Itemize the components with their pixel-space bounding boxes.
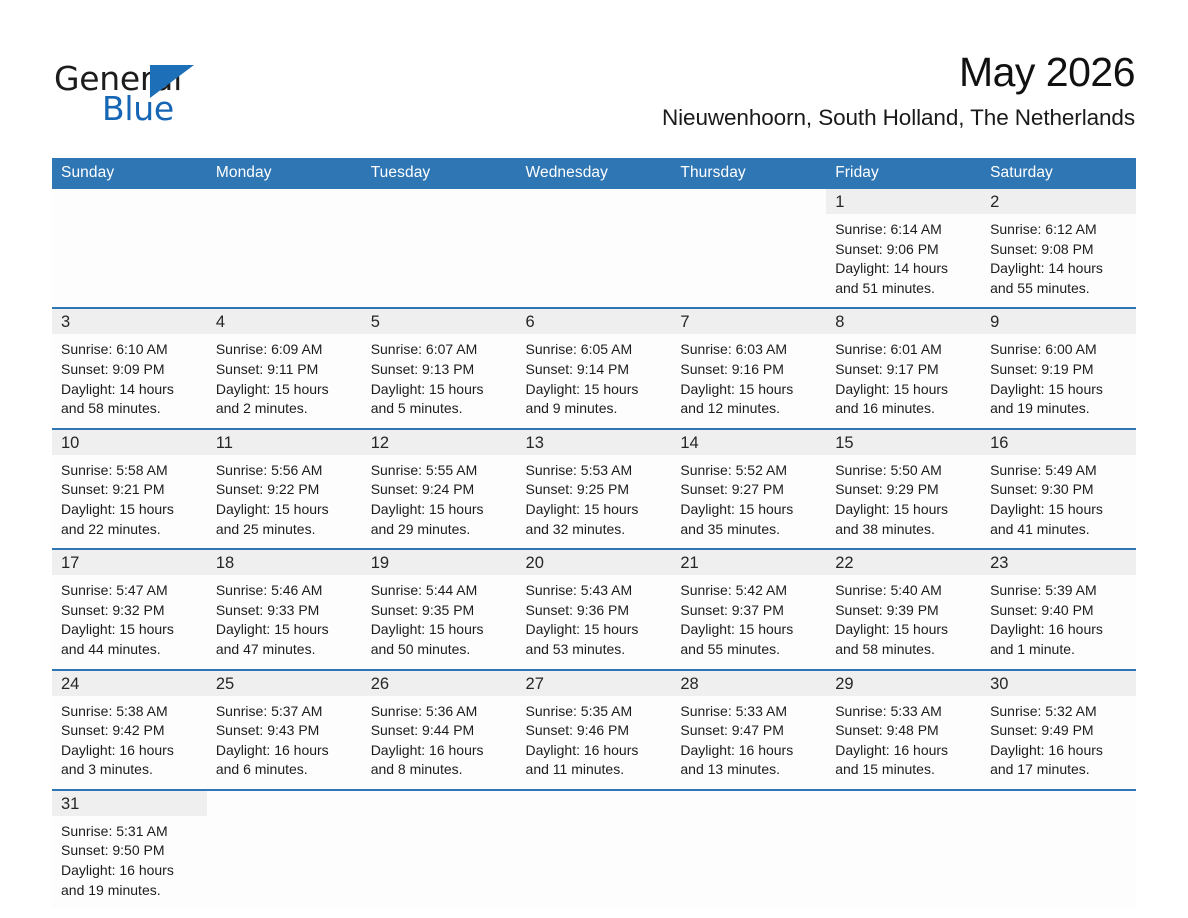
sunset-text: Sunset: 9:06 PM (835, 240, 971, 260)
sunset-text: Sunset: 9:35 PM (371, 601, 507, 621)
day-number-band: 24 (52, 671, 207, 696)
daylight-text-line2: and 1 minute. (990, 640, 1126, 660)
sunrise-text: Sunrise: 6:14 AM (835, 220, 971, 240)
day-number: 27 (526, 675, 544, 693)
day-number: 23 (990, 554, 1008, 572)
daylight-text-line2: and 58 minutes. (61, 399, 197, 419)
sunset-text: Sunset: 9:11 PM (216, 360, 352, 380)
daylight-text-line2: and 8 minutes. (371, 760, 507, 780)
daylight-text-line2: and 41 minutes. (990, 520, 1126, 540)
day-details: Sunrise: 5:58 AMSunset: 9:21 PMDaylight:… (52, 455, 207, 548)
daylight-text-line1: Daylight: 15 hours (61, 620, 197, 640)
location-subtitle: Nieuwenhoorn, South Holland, The Netherl… (662, 105, 1135, 131)
calendar-day-cell-empty (517, 790, 672, 909)
day-number-band: 8 (826, 309, 981, 334)
day-number: 12 (371, 434, 389, 452)
daylight-text-line1: Daylight: 16 hours (61, 861, 197, 881)
calendar-day-cell[interactable]: 19Sunrise: 5:44 AMSunset: 9:35 PMDayligh… (362, 549, 517, 669)
daylight-text-line2: and 47 minutes. (216, 640, 352, 660)
daylight-text-line1: Daylight: 15 hours (990, 500, 1126, 520)
day-number-band: 17 (52, 550, 207, 575)
calendar-day-cell-empty (826, 790, 981, 909)
daylight-text-line1: Daylight: 16 hours (680, 741, 816, 761)
day-number-band: 25 (207, 671, 362, 696)
sunset-text: Sunset: 9:36 PM (526, 601, 662, 621)
sunrise-text: Sunrise: 5:38 AM (61, 702, 197, 722)
day-number: 31 (61, 795, 79, 813)
sunset-text: Sunset: 9:14 PM (526, 360, 662, 380)
day-details: Sunrise: 5:33 AMSunset: 9:47 PMDaylight:… (671, 696, 826, 789)
sunset-text: Sunset: 9:24 PM (371, 480, 507, 500)
sunrise-text: Sunrise: 6:07 AM (371, 340, 507, 360)
sunset-text: Sunset: 9:19 PM (990, 360, 1126, 380)
calendar-day-cell[interactable]: 22Sunrise: 5:40 AMSunset: 9:39 PMDayligh… (826, 549, 981, 669)
day-details: Sunrise: 5:47 AMSunset: 9:32 PMDaylight:… (52, 575, 207, 668)
calendar-day-cell-empty (52, 189, 207, 308)
day-number: 5 (371, 313, 380, 331)
page-title: May 2026 (662, 47, 1135, 97)
day-number: 13 (526, 434, 544, 452)
day-number: 1 (835, 193, 844, 211)
weekday-header-friday: Friday (826, 158, 981, 189)
daylight-text-line2: and 25 minutes. (216, 520, 352, 540)
calendar-day-cell[interactable]: 17Sunrise: 5:47 AMSunset: 9:32 PMDayligh… (52, 549, 207, 669)
day-details: Sunrise: 6:00 AMSunset: 9:19 PMDaylight:… (981, 334, 1136, 427)
day-number-band: 14 (671, 430, 826, 455)
day-details: Sunrise: 5:55 AMSunset: 9:24 PMDaylight:… (362, 455, 517, 548)
calendar-page: General Blue May 2026 Nieuwenhoorn, Sout… (0, 0, 1188, 918)
daylight-text-line1: Daylight: 16 hours (835, 741, 971, 761)
daylight-text-line1: Daylight: 16 hours (990, 741, 1126, 761)
sunrise-text: Sunrise: 5:33 AM (835, 702, 971, 722)
sunset-text: Sunset: 9:40 PM (990, 601, 1126, 621)
sunset-text: Sunset: 9:48 PM (835, 721, 971, 741)
daylight-text-line1: Daylight: 15 hours (990, 380, 1126, 400)
sunset-text: Sunset: 9:13 PM (371, 360, 507, 380)
daylight-text-line2: and 53 minutes. (526, 640, 662, 660)
sunset-text: Sunset: 9:47 PM (680, 721, 816, 741)
calendar-day-cell[interactable]: 14Sunrise: 5:52 AMSunset: 9:27 PMDayligh… (671, 429, 826, 549)
day-number-band: 23 (981, 550, 1136, 575)
sunrise-text: Sunrise: 5:37 AM (216, 702, 352, 722)
day-number-band: 4 (207, 309, 362, 334)
sunset-text: Sunset: 9:49 PM (990, 721, 1126, 741)
day-number-band: 20 (517, 550, 672, 575)
day-number: 4 (216, 313, 225, 331)
calendar-day-cell[interactable]: 2Sunrise: 6:12 AMSunset: 9:08 PMDaylight… (981, 189, 1136, 308)
daylight-text-line2: and 5 minutes. (371, 399, 507, 419)
calendar-day-cell[interactable]: 29Sunrise: 5:33 AMSunset: 9:48 PMDayligh… (826, 670, 981, 790)
daylight-text-line1: Daylight: 15 hours (216, 500, 352, 520)
daylight-text-line2: and 55 minutes. (680, 640, 816, 660)
sunrise-text: Sunrise: 5:35 AM (526, 702, 662, 722)
calendar-day-cell-empty (362, 189, 517, 308)
daylight-text-line2: and 50 minutes. (371, 640, 507, 660)
day-details: Sunrise: 6:09 AMSunset: 9:11 PMDaylight:… (207, 334, 362, 427)
sunrise-text: Sunrise: 5:52 AM (680, 461, 816, 481)
day-details: Sunrise: 6:03 AMSunset: 9:16 PMDaylight:… (671, 334, 826, 427)
day-number: 17 (61, 554, 79, 572)
sunrise-text: Sunrise: 5:39 AM (990, 581, 1126, 601)
calendar-day-cell[interactable]: 21Sunrise: 5:42 AMSunset: 9:37 PMDayligh… (671, 549, 826, 669)
sunrise-text: Sunrise: 5:36 AM (371, 702, 507, 722)
calendar-week-row: 3Sunrise: 6:10 AMSunset: 9:09 PMDaylight… (52, 308, 1136, 428)
day-number-band: 2 (981, 189, 1136, 214)
calendar-day-cell-empty (671, 189, 826, 308)
day-number: 8 (835, 313, 844, 331)
sunrise-text: Sunrise: 5:46 AM (216, 581, 352, 601)
sunrise-text: Sunrise: 5:58 AM (61, 461, 197, 481)
sunset-text: Sunset: 9:39 PM (835, 601, 971, 621)
sunset-text: Sunset: 9:09 PM (61, 360, 197, 380)
daylight-text-line2: and 32 minutes. (526, 520, 662, 540)
sunrise-text: Sunrise: 6:05 AM (526, 340, 662, 360)
calendar-day-cell-empty (207, 790, 362, 909)
day-number: 22 (835, 554, 853, 572)
daylight-text-line1: Daylight: 15 hours (680, 500, 816, 520)
calendar-week-row: 10Sunrise: 5:58 AMSunset: 9:21 PMDayligh… (52, 429, 1136, 549)
day-number-band: 11 (207, 430, 362, 455)
day-number-band: 6 (517, 309, 672, 334)
calendar-day-cell[interactable]: 23Sunrise: 5:39 AMSunset: 9:40 PMDayligh… (981, 549, 1136, 669)
calendar-day-cell[interactable]: 28Sunrise: 5:33 AMSunset: 9:47 PMDayligh… (671, 670, 826, 790)
day-number-band: 7 (671, 309, 826, 334)
daylight-text-line1: Daylight: 15 hours (371, 500, 507, 520)
day-number: 29 (835, 675, 853, 693)
daylight-text-line1: Daylight: 15 hours (835, 620, 971, 640)
calendar-day-cell[interactable]: 4Sunrise: 6:09 AMSunset: 9:11 PMDaylight… (207, 308, 362, 428)
calendar-day-cell[interactable]: 13Sunrise: 5:53 AMSunset: 9:25 PMDayligh… (517, 429, 672, 549)
calendar-day-cell[interactable]: 30Sunrise: 5:32 AMSunset: 9:49 PMDayligh… (981, 670, 1136, 790)
calendar-day-cell[interactable]: 8Sunrise: 6:01 AMSunset: 9:17 PMDaylight… (826, 308, 981, 428)
calendar-week-row: 24Sunrise: 5:38 AMSunset: 9:42 PMDayligh… (52, 670, 1136, 790)
daylight-text-line1: Daylight: 15 hours (835, 500, 971, 520)
day-details: Sunrise: 5:38 AMSunset: 9:42 PMDaylight:… (52, 696, 207, 789)
calendar-day-cell[interactable]: 11Sunrise: 5:56 AMSunset: 9:22 PMDayligh… (207, 429, 362, 549)
sunset-text: Sunset: 9:30 PM (990, 480, 1126, 500)
day-number: 2 (990, 193, 999, 211)
day-number: 20 (526, 554, 544, 572)
daylight-text-line2: and 44 minutes. (61, 640, 197, 660)
day-number: 9 (990, 313, 999, 331)
day-number: 16 (990, 434, 1008, 452)
day-number: 19 (371, 554, 389, 572)
daylight-text-line1: Daylight: 16 hours (371, 741, 507, 761)
calendar-body: 1Sunrise: 6:14 AMSunset: 9:06 PMDaylight… (52, 189, 1136, 909)
day-number: 30 (990, 675, 1008, 693)
day-number: 28 (680, 675, 698, 693)
weekday-header-tuesday: Tuesday (362, 158, 517, 189)
day-number-band: 3 (52, 309, 207, 334)
sunset-text: Sunset: 9:25 PM (526, 480, 662, 500)
daylight-text-line2: and 22 minutes. (61, 520, 197, 540)
daylight-text-line2: and 9 minutes. (526, 399, 662, 419)
day-details: Sunrise: 5:37 AMSunset: 9:43 PMDaylight:… (207, 696, 362, 789)
sunrise-text: Sunrise: 5:47 AM (61, 581, 197, 601)
sunrise-text: Sunrise: 5:43 AM (526, 581, 662, 601)
calendar-day-cell[interactable]: 12Sunrise: 5:55 AMSunset: 9:24 PMDayligh… (362, 429, 517, 549)
daylight-text-line2: and 11 minutes. (526, 760, 662, 780)
calendar-day-cell-empty (362, 790, 517, 909)
sunset-text: Sunset: 9:22 PM (216, 480, 352, 500)
day-number-band: 22 (826, 550, 981, 575)
day-number-band: 27 (517, 671, 672, 696)
day-number: 6 (526, 313, 535, 331)
day-number-band: 1 (826, 189, 981, 214)
daylight-text-line1: Daylight: 15 hours (216, 620, 352, 640)
calendar-day-cell[interactable]: 1Sunrise: 6:14 AMSunset: 9:06 PMDaylight… (826, 189, 981, 308)
sunset-text: Sunset: 9:17 PM (835, 360, 971, 380)
calendar-day-cell-empty (207, 189, 362, 308)
sunset-text: Sunset: 9:44 PM (371, 721, 507, 741)
day-number-band: 18 (207, 550, 362, 575)
general-blue-logo: General Blue (54, 60, 354, 130)
calendar-header-row: Sunday Monday Tuesday Wednesday Thursday… (52, 158, 1136, 189)
day-details: Sunrise: 5:40 AMSunset: 9:39 PMDaylight:… (826, 575, 981, 668)
day-details: Sunrise: 5:56 AMSunset: 9:22 PMDaylight:… (207, 455, 362, 548)
sunrise-text: Sunrise: 6:10 AM (61, 340, 197, 360)
sunset-text: Sunset: 9:43 PM (216, 721, 352, 741)
day-number-band: 30 (981, 671, 1136, 696)
day-details: Sunrise: 6:14 AMSunset: 9:06 PMDaylight:… (826, 214, 981, 307)
daylight-text-line2: and 58 minutes. (835, 640, 971, 660)
calendar-day-cell[interactable]: 20Sunrise: 5:43 AMSunset: 9:36 PMDayligh… (517, 549, 672, 669)
daylight-text-line2: and 35 minutes. (680, 520, 816, 540)
sunrise-text: Sunrise: 6:00 AM (990, 340, 1126, 360)
calendar-day-cell[interactable]: 24Sunrise: 5:38 AMSunset: 9:42 PMDayligh… (52, 670, 207, 790)
calendar-day-cell[interactable]: 27Sunrise: 5:35 AMSunset: 9:46 PMDayligh… (517, 670, 672, 790)
day-number-band: 26 (362, 671, 517, 696)
day-details: Sunrise: 6:12 AMSunset: 9:08 PMDaylight:… (981, 214, 1136, 307)
daylight-text-line1: Daylight: 14 hours (990, 259, 1126, 279)
daylight-text-line1: Daylight: 15 hours (526, 380, 662, 400)
sunrise-text: Sunrise: 6:03 AM (680, 340, 816, 360)
daylight-text-line1: Daylight: 15 hours (526, 620, 662, 640)
title-block: May 2026 Nieuwenhoorn, South Holland, Th… (662, 47, 1135, 131)
daylight-text-line2: and 12 minutes. (680, 399, 816, 419)
day-number: 26 (371, 675, 389, 693)
calendar-day-cell[interactable]: 18Sunrise: 5:46 AMSunset: 9:33 PMDayligh… (207, 549, 362, 669)
day-details: Sunrise: 5:43 AMSunset: 9:36 PMDaylight:… (517, 575, 672, 668)
daylight-text-line2: and 51 minutes. (835, 279, 971, 299)
day-number: 25 (216, 675, 234, 693)
daylight-text-line1: Daylight: 15 hours (680, 380, 816, 400)
day-number-band: 15 (826, 430, 981, 455)
sunset-text: Sunset: 9:46 PM (526, 721, 662, 741)
day-details: Sunrise: 5:35 AMSunset: 9:46 PMDaylight:… (517, 696, 672, 789)
daylight-text-line1: Daylight: 16 hours (526, 741, 662, 761)
day-number-band: 31 (52, 791, 207, 816)
sunset-text: Sunset: 9:37 PM (680, 601, 816, 621)
daylight-text-line2: and 15 minutes. (835, 760, 971, 780)
day-number-band: 10 (52, 430, 207, 455)
day-number-band: 5 (362, 309, 517, 334)
sunset-text: Sunset: 9:16 PM (680, 360, 816, 380)
day-details: Sunrise: 5:49 AMSunset: 9:30 PMDaylight:… (981, 455, 1136, 548)
calendar-day-cell[interactable]: 26Sunrise: 5:36 AMSunset: 9:44 PMDayligh… (362, 670, 517, 790)
calendar-day-cell[interactable]: 10Sunrise: 5:58 AMSunset: 9:21 PMDayligh… (52, 429, 207, 549)
day-details: Sunrise: 6:05 AMSunset: 9:14 PMDaylight:… (517, 334, 672, 427)
daylight-text-line1: Daylight: 15 hours (216, 380, 352, 400)
calendar-day-cell[interactable]: 5Sunrise: 6:07 AMSunset: 9:13 PMDaylight… (362, 308, 517, 428)
page-header: General Blue May 2026 Nieuwenhoorn, Sout… (0, 0, 1188, 155)
daylight-text-line1: Daylight: 15 hours (61, 500, 197, 520)
day-number: 14 (680, 434, 698, 452)
day-number: 15 (835, 434, 853, 452)
logo-text-blue: Blue (102, 90, 174, 128)
calendar-day-cell[interactable]: 3Sunrise: 6:10 AMSunset: 9:09 PMDaylight… (52, 308, 207, 428)
day-number: 3 (61, 313, 70, 331)
day-details: Sunrise: 5:33 AMSunset: 9:48 PMDaylight:… (826, 696, 981, 789)
calendar-day-cell[interactable]: 16Sunrise: 5:49 AMSunset: 9:30 PMDayligh… (981, 429, 1136, 549)
daylight-text-line1: Daylight: 14 hours (835, 259, 971, 279)
day-details: Sunrise: 5:39 AMSunset: 9:40 PMDaylight:… (981, 575, 1136, 668)
day-number: 7 (680, 313, 689, 331)
day-details: Sunrise: 5:42 AMSunset: 9:37 PMDaylight:… (671, 575, 826, 668)
day-number-band: 9 (981, 309, 1136, 334)
weekday-header-thursday: Thursday (671, 158, 826, 189)
day-number-band: 12 (362, 430, 517, 455)
daylight-text-line2: and 19 minutes. (990, 399, 1126, 419)
sunrise-text: Sunrise: 6:01 AM (835, 340, 971, 360)
daylight-text-line2: and 3 minutes. (61, 760, 197, 780)
daylight-text-line2: and 13 minutes. (680, 760, 816, 780)
weekday-header-monday: Monday (207, 158, 362, 189)
daylight-text-line1: Daylight: 16 hours (216, 741, 352, 761)
sunset-text: Sunset: 9:21 PM (61, 480, 197, 500)
sunrise-text: Sunrise: 5:49 AM (990, 461, 1126, 481)
calendar-week-row: 1Sunrise: 6:14 AMSunset: 9:06 PMDaylight… (52, 189, 1136, 308)
daylight-text-line1: Daylight: 15 hours (526, 500, 662, 520)
sunset-text: Sunset: 9:32 PM (61, 601, 197, 621)
daylight-text-line2: and 6 minutes. (216, 760, 352, 780)
day-number: 21 (680, 554, 698, 572)
daylight-text-line1: Daylight: 14 hours (61, 380, 197, 400)
day-details: Sunrise: 5:31 AMSunset: 9:50 PMDaylight:… (52, 816, 207, 909)
sunrise-text: Sunrise: 5:33 AM (680, 702, 816, 722)
calendar-day-cell[interactable]: 9Sunrise: 6:00 AMSunset: 9:19 PMDaylight… (981, 308, 1136, 428)
calendar-day-cell[interactable]: 15Sunrise: 5:50 AMSunset: 9:29 PMDayligh… (826, 429, 981, 549)
day-details: Sunrise: 6:07 AMSunset: 9:13 PMDaylight:… (362, 334, 517, 427)
day-number-band: 19 (362, 550, 517, 575)
day-details: Sunrise: 5:32 AMSunset: 9:49 PMDaylight:… (981, 696, 1136, 789)
day-number: 10 (61, 434, 79, 452)
daylight-text-line1: Daylight: 16 hours (990, 620, 1126, 640)
day-details: Sunrise: 6:01 AMSunset: 9:17 PMDaylight:… (826, 334, 981, 427)
sunrise-text: Sunrise: 5:50 AM (835, 461, 971, 481)
sunrise-text: Sunrise: 5:55 AM (371, 461, 507, 481)
day-number: 24 (61, 675, 79, 693)
sunrise-text: Sunrise: 6:12 AM (990, 220, 1126, 240)
sunset-text: Sunset: 9:08 PM (990, 240, 1126, 260)
sunset-text: Sunset: 9:33 PM (216, 601, 352, 621)
sunset-text: Sunset: 9:27 PM (680, 480, 816, 500)
daylight-text-line2: and 17 minutes. (990, 760, 1126, 780)
day-details: Sunrise: 5:46 AMSunset: 9:33 PMDaylight:… (207, 575, 362, 668)
sunset-text: Sunset: 9:29 PM (835, 480, 971, 500)
day-details: Sunrise: 5:52 AMSunset: 9:27 PMDaylight:… (671, 455, 826, 548)
day-number-band: 13 (517, 430, 672, 455)
day-number: 18 (216, 554, 234, 572)
daylight-text-line1: Daylight: 15 hours (371, 620, 507, 640)
day-number-band: 21 (671, 550, 826, 575)
daylight-text-line1: Daylight: 16 hours (61, 741, 197, 761)
day-details: Sunrise: 5:53 AMSunset: 9:25 PMDaylight:… (517, 455, 672, 548)
day-number-band: 16 (981, 430, 1136, 455)
calendar-week-row: 31Sunrise: 5:31 AMSunset: 9:50 PMDayligh… (52, 790, 1136, 909)
day-details: Sunrise: 5:44 AMSunset: 9:35 PMDaylight:… (362, 575, 517, 668)
calendar-day-cell[interactable]: 6Sunrise: 6:05 AMSunset: 9:14 PMDaylight… (517, 308, 672, 428)
sunrise-text: Sunrise: 5:53 AM (526, 461, 662, 481)
calendar-day-cell[interactable]: 7Sunrise: 6:03 AMSunset: 9:16 PMDaylight… (671, 308, 826, 428)
calendar-day-cell-empty (671, 790, 826, 909)
sunrise-text: Sunrise: 5:42 AM (680, 581, 816, 601)
day-details: Sunrise: 5:50 AMSunset: 9:29 PMDaylight:… (826, 455, 981, 548)
weekday-header-sunday: Sunday (52, 158, 207, 189)
sunrise-text: Sunrise: 5:40 AM (835, 581, 971, 601)
sunrise-text: Sunrise: 5:44 AM (371, 581, 507, 601)
calendar-week-row: 17Sunrise: 5:47 AMSunset: 9:32 PMDayligh… (52, 549, 1136, 669)
daylight-text-line2: and 16 minutes. (835, 399, 971, 419)
day-number-band: 29 (826, 671, 981, 696)
calendar-day-cell[interactable]: 31Sunrise: 5:31 AMSunset: 9:50 PMDayligh… (52, 790, 207, 909)
day-details: Sunrise: 6:10 AMSunset: 9:09 PMDaylight:… (52, 334, 207, 427)
daylight-text-line2: and 19 minutes. (61, 881, 197, 901)
calendar-day-cell-empty (517, 189, 672, 308)
daylight-text-line2: and 29 minutes. (371, 520, 507, 540)
day-details: Sunrise: 5:36 AMSunset: 9:44 PMDaylight:… (362, 696, 517, 789)
daylight-text-line2: and 2 minutes. (216, 399, 352, 419)
sunrise-text: Sunrise: 5:32 AM (990, 702, 1126, 722)
calendar-day-cell[interactable]: 25Sunrise: 5:37 AMSunset: 9:43 PMDayligh… (207, 670, 362, 790)
calendar-table: Sunday Monday Tuesday Wednesday Thursday… (52, 158, 1136, 909)
weekday-header-wednesday: Wednesday (517, 158, 672, 189)
daylight-text-line1: Daylight: 15 hours (680, 620, 816, 640)
sunset-text: Sunset: 9:50 PM (61, 841, 197, 861)
daylight-text-line2: and 55 minutes. (990, 279, 1126, 299)
daylight-text-line1: Daylight: 15 hours (371, 380, 507, 400)
day-number-band: 28 (671, 671, 826, 696)
sunset-text: Sunset: 9:42 PM (61, 721, 197, 741)
daylight-text-line1: Daylight: 15 hours (835, 380, 971, 400)
sunrise-text: Sunrise: 6:09 AM (216, 340, 352, 360)
daylight-text-line2: and 38 minutes. (835, 520, 971, 540)
weekday-header-saturday: Saturday (981, 158, 1136, 189)
sunrise-text: Sunrise: 5:56 AM (216, 461, 352, 481)
calendar-day-cell-empty (981, 790, 1136, 909)
sunrise-text: Sunrise: 5:31 AM (61, 822, 197, 842)
day-number: 11 (216, 434, 233, 452)
